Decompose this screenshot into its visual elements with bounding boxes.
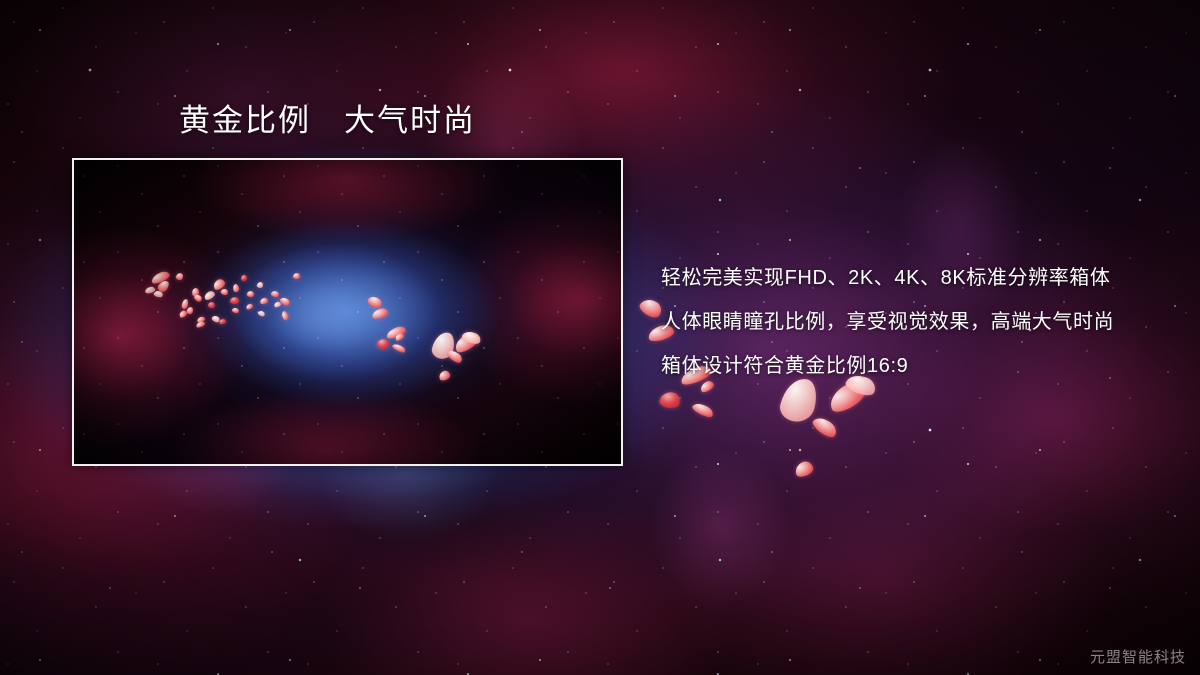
watermark-label: 元盟智能科技: [1090, 646, 1186, 667]
petal: [659, 390, 682, 410]
led-display-content: [74, 160, 621, 464]
led-display-panel: [72, 158, 623, 466]
panel-vignette: [74, 160, 621, 464]
slide-canvas: 黄金比例 大气时尚 轻松完美实现FHD、2K、4K、8K标准分辨率箱体 人体眼睛…: [0, 0, 1200, 675]
page-title: 黄金比例 大气时尚: [179, 102, 476, 141]
description-line-2: 人体眼睛瞳孔比例，享受视觉效果，高端大气时尚: [661, 300, 1161, 344]
petal: [793, 460, 814, 479]
description-line-1: 轻松完美实现FHD、2K、4K、8K标准分辨率箱体: [661, 256, 1161, 300]
petal: [691, 400, 715, 419]
description-line-3: 箱体设计符合黄金比例16:9: [661, 344, 1161, 388]
feature-description-block: 轻松完美实现FHD、2K、4K、8K标准分辨率箱体 人体眼睛瞳孔比例，享受视觉效…: [661, 256, 1161, 388]
petal: [810, 413, 839, 440]
